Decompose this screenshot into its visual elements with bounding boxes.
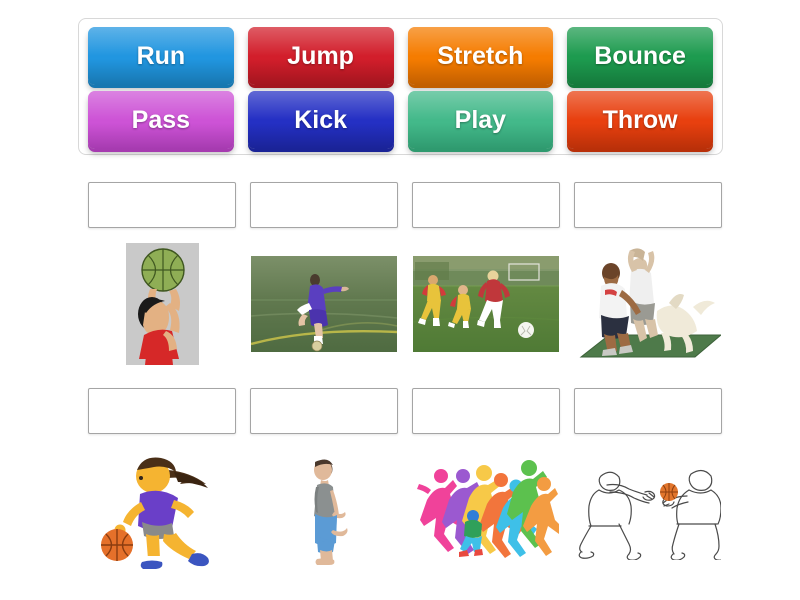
image-person-stretching[interactable] <box>250 440 398 580</box>
drop-zone-8[interactable] <box>574 388 722 434</box>
drop-zone-4[interactable] <box>574 182 722 228</box>
image-kids-soccer[interactable] <box>412 234 560 374</box>
jumping-dog-photo <box>575 245 721 363</box>
drop-zone-1[interactable] <box>88 182 236 228</box>
drop-zone-6[interactable] <box>250 388 398 434</box>
word-tile-play[interactable]: Play <box>408 91 554 149</box>
person-stretching-illustration <box>293 454 355 566</box>
word-tile-stretch[interactable]: Stretch <box>408 27 554 85</box>
drop-zone-3[interactable] <box>412 182 560 228</box>
kids-soccer-photo <box>413 256 559 352</box>
image-jumping-dog[interactable] <box>574 234 722 374</box>
word-bank-panel: Run Jump Stretch Bounce Pass Kick Play T… <box>78 18 723 155</box>
basketball-throw-illustration <box>126 243 199 365</box>
word-bank-row-2: Pass Kick Play Throw <box>88 91 713 149</box>
word-tile-run[interactable]: Run <box>88 27 234 85</box>
answer-row-1 <box>88 182 722 228</box>
soccer-kick-photo <box>251 256 397 352</box>
drop-zone-5[interactable] <box>88 388 236 434</box>
word-tile-label: Stretch <box>437 42 523 71</box>
word-tile-pass[interactable]: Pass <box>88 91 234 149</box>
image-row-2 <box>88 440 722 580</box>
word-tile-label: Jump <box>287 42 354 71</box>
image-girl-bouncing-ball[interactable] <box>88 440 236 580</box>
image-passing-ball[interactable] <box>574 440 722 580</box>
word-tile-label: Kick <box>294 106 347 135</box>
word-tile-kick[interactable]: Kick <box>248 91 394 149</box>
image-soccer-kick[interactable] <box>250 234 398 374</box>
word-tile-label: Pass <box>132 106 190 135</box>
running-silhouettes-illustration <box>413 460 559 560</box>
word-tile-jump[interactable]: Jump <box>248 27 394 85</box>
drop-zone-7[interactable] <box>412 388 560 434</box>
word-bank-row-1: Run Jump Stretch Bounce <box>88 27 713 85</box>
image-row-1 <box>88 234 722 374</box>
image-running-silhouettes[interactable] <box>412 440 560 580</box>
word-tile-bounce[interactable]: Bounce <box>567 27 713 85</box>
word-tile-label: Play <box>455 106 506 135</box>
word-tile-label: Throw <box>603 106 678 135</box>
answer-row-2 <box>88 388 722 434</box>
girl-bouncing-ball-illustration <box>96 450 228 570</box>
image-basketball-throw[interactable] <box>88 234 236 374</box>
word-tile-label: Run <box>137 42 186 71</box>
passing-ball-line-art <box>575 460 721 560</box>
drop-zone-2[interactable] <box>250 182 398 228</box>
word-tile-throw[interactable]: Throw <box>567 91 713 149</box>
word-tile-label: Bounce <box>594 42 686 71</box>
